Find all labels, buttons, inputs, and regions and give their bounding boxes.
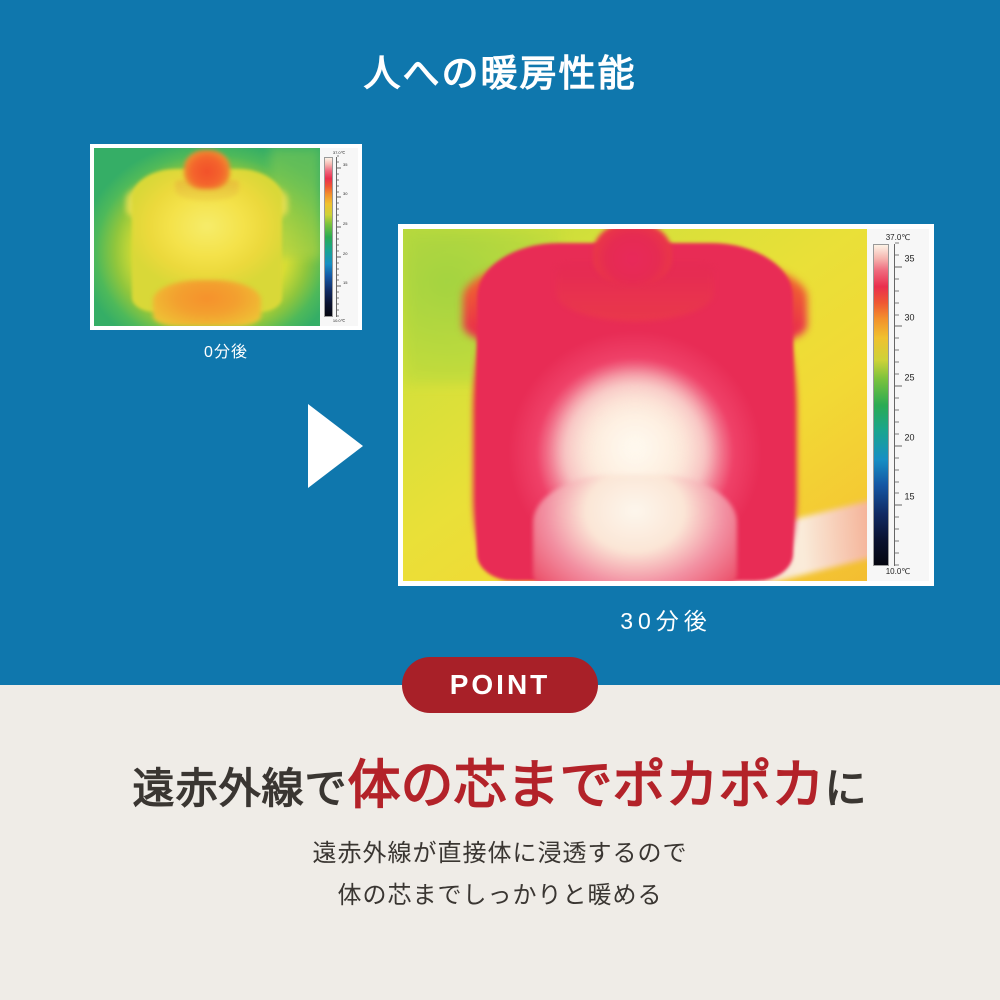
- legend-tick-minor: [337, 310, 339, 311]
- thermal-scene-after: [403, 229, 867, 581]
- legend-tick-minor: [337, 268, 339, 269]
- legend-tick-minor: [895, 541, 899, 542]
- legend-color-gradient: [324, 157, 333, 317]
- legend-tick-major: [895, 505, 902, 506]
- legend-tick-minor: [895, 398, 899, 399]
- point-badge: POINT: [402, 657, 598, 713]
- legend-tick-minor: [337, 262, 339, 263]
- legend-tick-minor: [337, 233, 339, 234]
- subtext-line-1: 遠赤外線が直接体に浸透するので: [0, 833, 1000, 875]
- temperature-legend-before: 37.0℃ 1520253035 10.0℃: [320, 148, 358, 326]
- legend-tick-minor: [895, 421, 899, 422]
- legend-axis-after: 1520253035: [894, 244, 924, 566]
- hero-section: 人への暖房性能 37.0℃ 1520253035 10.0℃ 0分後: [0, 0, 1000, 685]
- legend-tick-minor: [895, 302, 899, 303]
- caption-before: 0分後: [90, 338, 362, 362]
- thermal-image-before: 37.0℃ 1520253035 10.0℃: [90, 144, 362, 330]
- headline: 遠赤外線で体の芯までポカポカに: [0, 743, 1000, 819]
- legend-min-label: 10.0℃: [886, 568, 911, 576]
- subtext: 遠赤外線が直接体に浸透するので 体の芯までしっかりと暖める: [0, 833, 1000, 917]
- legend-tick-major: [337, 197, 341, 198]
- legend-tick-minor: [895, 457, 899, 458]
- legend-tick-minor: [895, 278, 899, 279]
- legend-tick-minor: [895, 290, 899, 291]
- legend-tick-minor: [337, 185, 339, 186]
- legend-tick-minor: [337, 215, 339, 216]
- legend-tick-minor: [895, 409, 899, 410]
- legend-tick-minor: [895, 565, 899, 566]
- legend-tick-major: [337, 227, 341, 228]
- legend-tick-label: 20: [905, 433, 915, 442]
- legend-tick-minor: [895, 362, 899, 363]
- legend-tick-major: [337, 256, 341, 257]
- legend-tick-major: [895, 326, 902, 327]
- legend-max-label: 37.0℃: [886, 234, 911, 242]
- legend-tick-minor: [895, 433, 899, 434]
- temperature-legend-after: 37.0℃ 1520253035 10.0℃: [867, 229, 929, 581]
- legend-tick-minor: [337, 161, 339, 162]
- headline-emphasis: 体の芯までポカポカ: [348, 756, 825, 815]
- legend-tick-minor: [895, 529, 899, 530]
- legend-tick-label: 25: [343, 222, 347, 226]
- page-title: 人への暖房性能: [0, 52, 1000, 96]
- legend-tick-minor: [337, 274, 339, 275]
- legend-tick-label: 35: [905, 254, 915, 263]
- legend-tick-minor: [895, 314, 899, 315]
- legend-tick-minor: [337, 203, 339, 204]
- thermal-image-after: 37.0℃ 1520253035 10.0℃: [398, 224, 934, 586]
- figure-head: [593, 229, 672, 285]
- subtext-line-2: 体の芯までしっかりと暖める: [0, 875, 1000, 917]
- legend-tick-minor: [337, 209, 339, 210]
- legend-tick-minor: [337, 244, 339, 245]
- headline-prefix: 遠赤外線で: [132, 765, 347, 812]
- legend-tick-major: [895, 386, 902, 387]
- legend-tick-minor: [337, 280, 339, 281]
- point-section: POINT 遠赤外線で体の芯までポカポカに 遠赤外線が直接体に浸透するので 体の…: [0, 685, 1000, 1000]
- legend-tick-minor: [895, 350, 899, 351]
- legend-tick-label: 15: [343, 281, 347, 285]
- legend-tick-minor: [337, 179, 339, 180]
- legend-tick-minor: [895, 517, 899, 518]
- legend-tick-minor: [337, 292, 339, 293]
- legend-tick-label: 30: [343, 192, 347, 196]
- legend-tick-major: [895, 266, 902, 267]
- legend-tick-major: [337, 167, 341, 168]
- legend-axis-before: 1520253035: [336, 157, 354, 317]
- legend-tick-minor: [337, 304, 339, 305]
- legend-tick-minor: [895, 338, 899, 339]
- legend-min-label: 10.0℃: [333, 319, 345, 323]
- thermal-scene-before: [94, 148, 320, 326]
- legend-tick-minor: [337, 238, 339, 239]
- figure-head: [184, 150, 229, 189]
- legend-tick-minor: [895, 493, 899, 494]
- legend-tick-minor: [337, 156, 339, 157]
- play-triangle-right-icon: [308, 404, 363, 488]
- figure-hands: [533, 475, 737, 581]
- legend-tick-minor: [337, 298, 339, 299]
- legend-color-gradient: [873, 244, 889, 566]
- legend-tick-label: 15: [905, 493, 915, 502]
- figure-hands: [153, 280, 261, 326]
- legend-tick-minor: [895, 481, 899, 482]
- legend-tick-major: [895, 445, 902, 446]
- headline-suffix: に: [825, 765, 868, 812]
- legend-tick-major: [337, 286, 341, 287]
- caption-after: 30分後: [398, 602, 934, 636]
- legend-tick-label: 30: [905, 314, 915, 323]
- legend-tick-minor: [895, 243, 899, 244]
- legend-tick-minor: [895, 374, 899, 375]
- legend-tick-minor: [895, 553, 899, 554]
- legend-tick-label: 35: [343, 163, 347, 167]
- legend-tick-minor: [337, 221, 339, 222]
- legend-tick-minor: [337, 191, 339, 192]
- legend-tick-minor: [337, 316, 339, 317]
- legend-tick-minor: [895, 254, 899, 255]
- legend-tick-minor: [337, 250, 339, 251]
- legend-tick-minor: [895, 469, 899, 470]
- legend-tick-label: 20: [343, 252, 347, 256]
- legend-tick-label: 25: [905, 374, 915, 383]
- legend-tick-minor: [337, 173, 339, 174]
